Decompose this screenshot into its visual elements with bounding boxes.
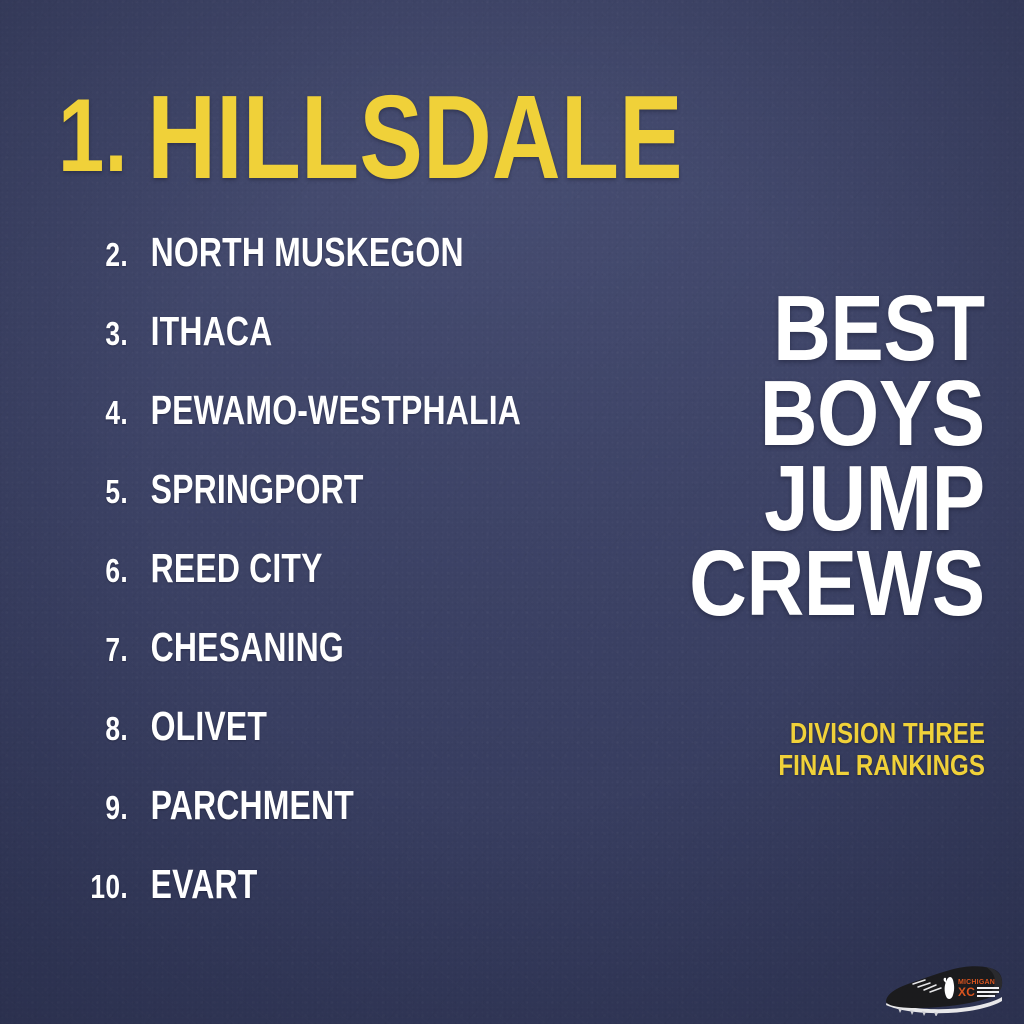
rank-number: 1. [26,74,128,188]
headline-block: BEST BOYS JUMP CREWS [641,286,985,626]
ranking-row-4: 4. PEWAMO-WESTPHALIA [0,390,620,469]
headline-word-2: BOYS [689,371,985,456]
rank-number: 9. [26,791,128,824]
rank-number: 6. [26,554,128,587]
rank-team-name: HILLSDALE [128,74,683,197]
rank-number: 7. [26,633,128,666]
subtitle-line-2: FINAL RANKINGS [778,750,985,782]
rank-number: 2. [26,238,128,271]
rank-number: 3. [26,317,128,350]
ranking-row-5: 5. SPRINGPORT [0,469,620,548]
racing-spike-shoe-icon: MICHIGAN XC [882,954,1008,1016]
rank-team-name: SPRINGPORT [128,469,364,510]
headline-word-1: BEST [689,286,985,371]
rank-team-name: REED CITY [128,548,323,589]
headline-word-3: JUMP [689,456,985,541]
subtitle-line-1: DIVISION THREE [778,718,985,750]
rank-team-name: PARCHMENT [128,785,354,826]
ranking-row-2: 2. NORTH MUSKEGON [0,232,620,311]
rank-team-name: OLIVET [128,706,267,747]
ranking-row-6: 6. REED CITY [0,548,620,627]
ranking-row-7: 7. CHESANING [0,627,620,706]
rank-team-name: NORTH MUSKEGON [128,232,464,273]
headline-word-4: CREWS [689,541,985,626]
ranking-row-1: 1. HILLSDALE [0,74,620,232]
rank-number: 10. [26,870,128,903]
ranking-row-9: 9. PARCHMENT [0,785,620,864]
brand-logo-line-2: XC [958,985,975,999]
rank-team-name: ITHACA [128,311,272,352]
rank-number: 5. [26,475,128,508]
subtitle-block: DIVISION THREE FINAL RANKINGS [736,718,985,783]
ranking-row-8: 8. OLIVET [0,706,620,785]
poster-content: 1. HILLSDALE 2. NORTH MUSKEGON 3. ITHACA… [0,0,1024,1024]
ranking-row-10: 10. EVART [0,864,620,943]
rankings-list: 1. HILLSDALE 2. NORTH MUSKEGON 3. ITHACA… [0,74,620,943]
ranking-poster: 1. HILLSDALE 2. NORTH MUSKEGON 3. ITHACA… [0,0,1024,1024]
rank-team-name: PEWAMO-WESTPHALIA [128,390,521,431]
rank-number: 4. [26,396,128,429]
rank-number: 8. [26,712,128,745]
rank-team-name: CHESANING [128,627,344,668]
rank-team-name: EVART [128,864,257,905]
ranking-row-3: 3. ITHACA [0,311,620,390]
